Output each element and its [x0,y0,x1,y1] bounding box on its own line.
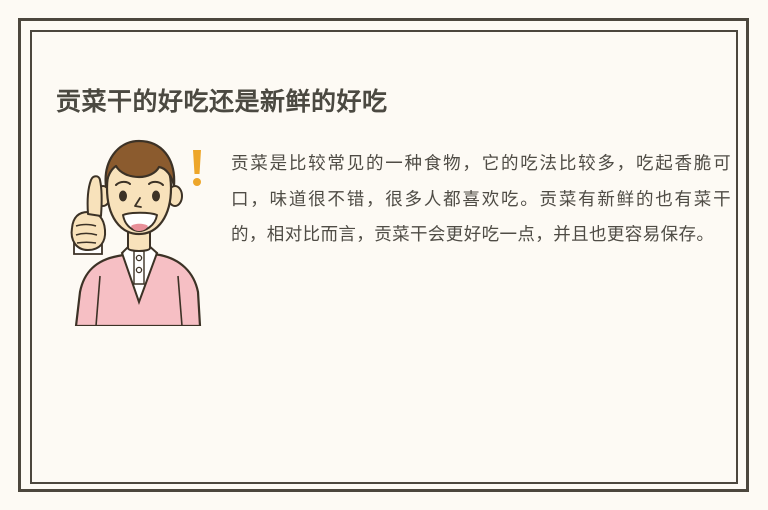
article-body: 贡菜是比较常见的一种食物，它的吃法比较多，吃起香脆可口，味道很不错，很多人都喜欢… [231,147,731,254]
page-root: 贡菜干的好吃还是新鲜的好吃 [0,0,768,510]
page-title: 贡菜干的好吃还是新鲜的好吃 [56,83,388,121]
article-body-paragraph: 贡菜是比较常见的一种食物，它的吃法比较多，吃起香脆可口，味道很不错，很多人都喜欢… [231,147,731,254]
pointing-man-illustration [60,132,212,326]
